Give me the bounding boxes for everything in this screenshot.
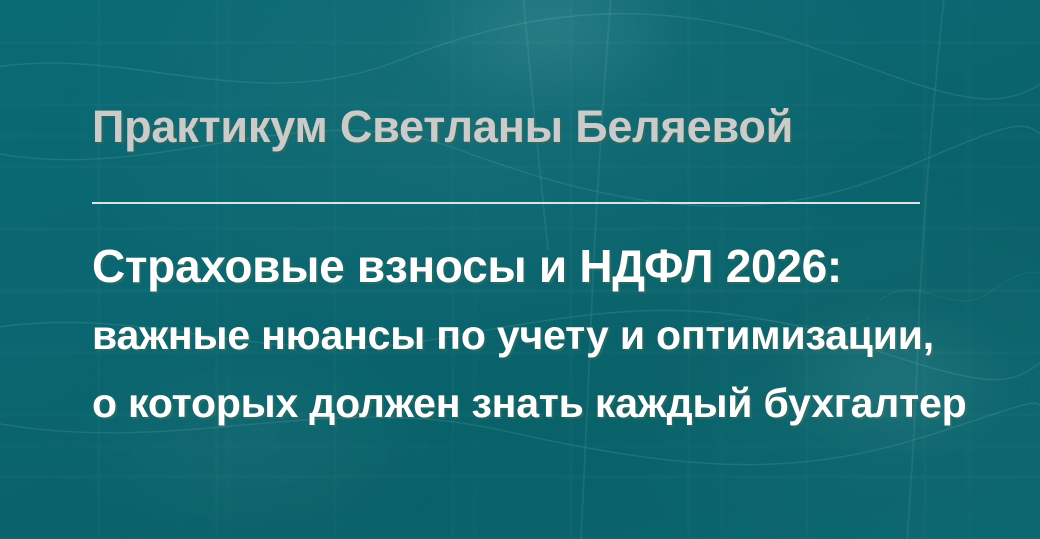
page-title-line-1: Страховые взносы и НДФЛ 2026: <box>92 232 962 301</box>
page-title-line-2: важные нюансы по учету и оптимизации, <box>92 301 962 369</box>
page-title-line-3: о которых должен знать каждый бухгалтер <box>92 369 962 437</box>
course-author-kicker: Практикум Светланы Беляевой <box>92 99 793 155</box>
banner-content: Практикум Светланы Беляевой Страховые вз… <box>92 0 948 539</box>
promo-banner: Практикум Светланы Беляевой Страховые вз… <box>0 0 1040 539</box>
header-divider <box>92 202 920 204</box>
page-title: Страховые взносы и НДФЛ 2026: важные нюа… <box>92 232 962 437</box>
